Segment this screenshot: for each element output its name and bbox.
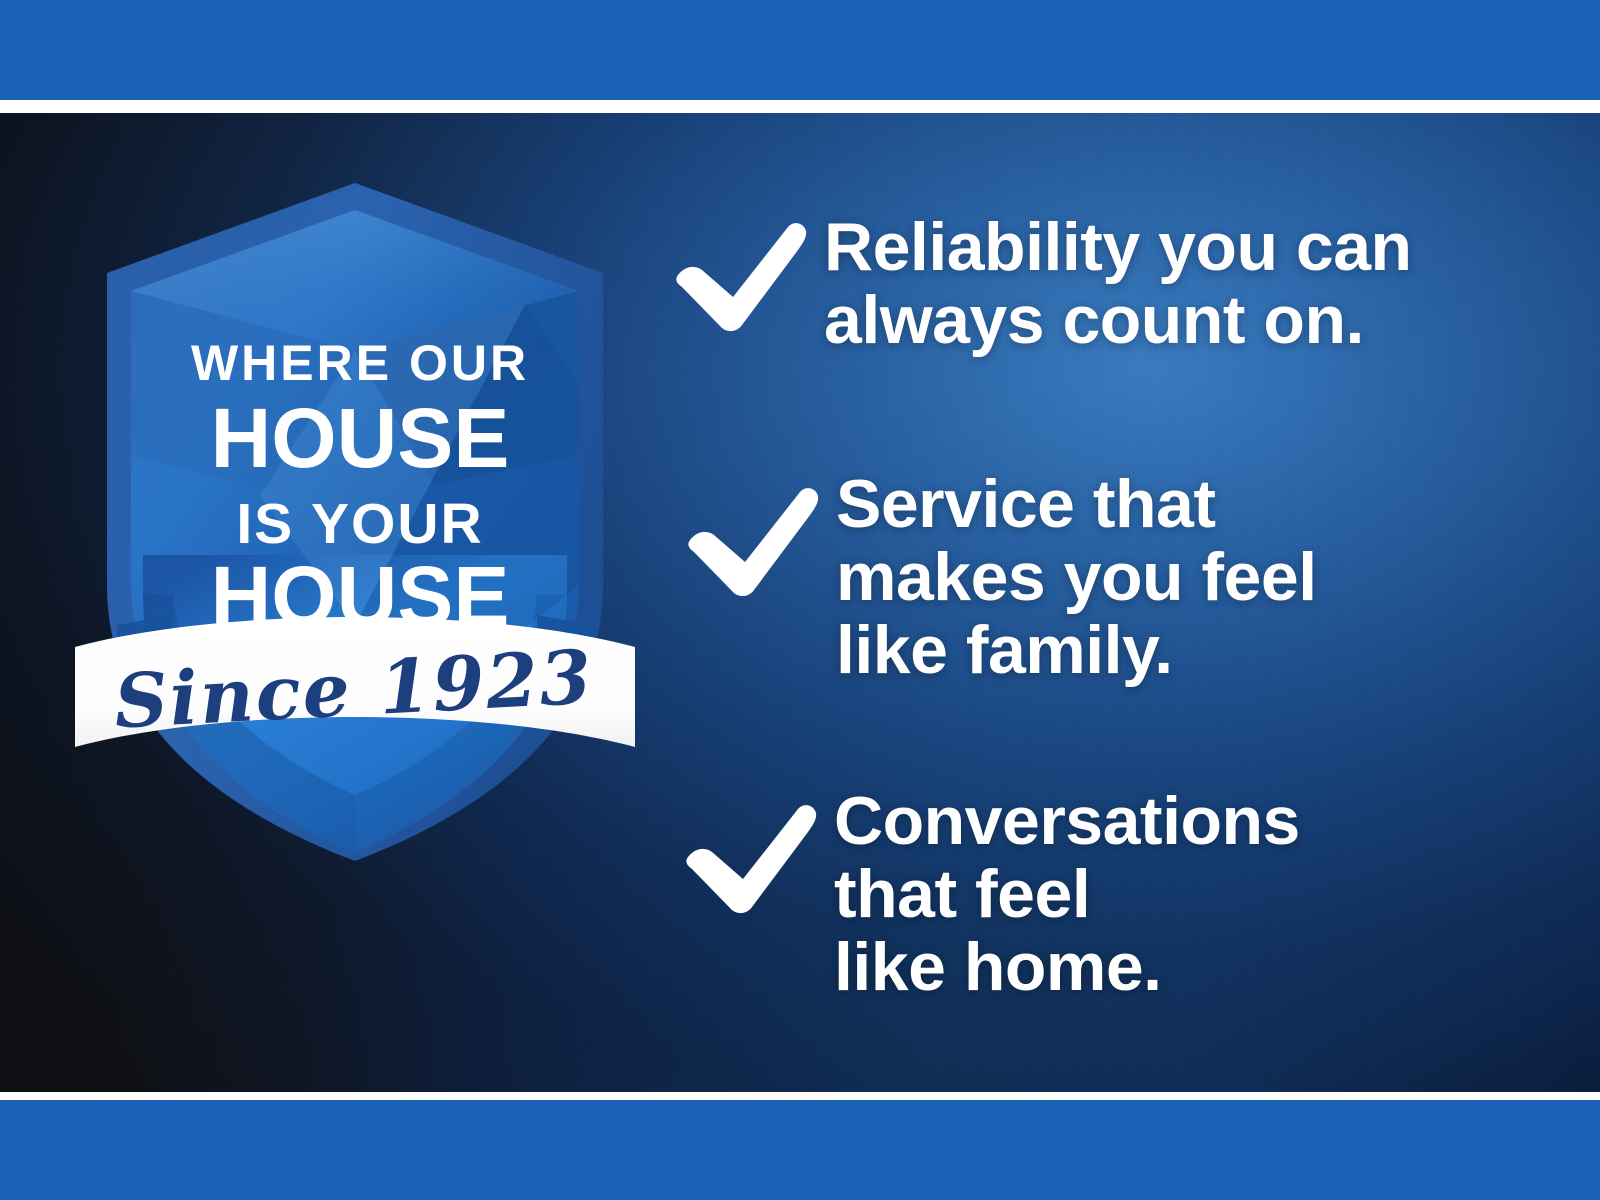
list-item-text: Service that makes you feel like family.: [836, 468, 1317, 686]
benefits-checklist: Reliability you can always count on. Ser…: [660, 113, 1560, 1092]
badge-line-1: WHERE OUR: [191, 335, 529, 391]
list-item-text: Conversations that feel like home.: [834, 785, 1300, 1003]
badge-line-2: HOUSE: [211, 391, 510, 485]
list-item: Reliability you can always count on.: [670, 211, 1412, 357]
list-item: Conversations that feel like home.: [670, 785, 1300, 1003]
checkmark-icon: [682, 482, 822, 602]
badge-graphic: WHERE OUR HOUSE IS YOUR HOUSE Since 1923: [55, 155, 655, 875]
top-brand-bar: [0, 0, 1600, 100]
badge: WHERE OUR HOUSE IS YOUR HOUSE Since 1923: [55, 155, 655, 875]
checkmark-icon: [680, 799, 820, 919]
list-item-text: Reliability you can always count on.: [824, 211, 1412, 357]
list-item: Service that makes you feel like family.: [670, 468, 1317, 686]
promo-poster: WHERE OUR HOUSE IS YOUR HOUSE Since 1923…: [0, 0, 1600, 1200]
bottom-brand-bar: [0, 1100, 1600, 1200]
checkmark-icon: [670, 217, 810, 337]
badge-line-3: IS YOUR: [236, 492, 483, 556]
